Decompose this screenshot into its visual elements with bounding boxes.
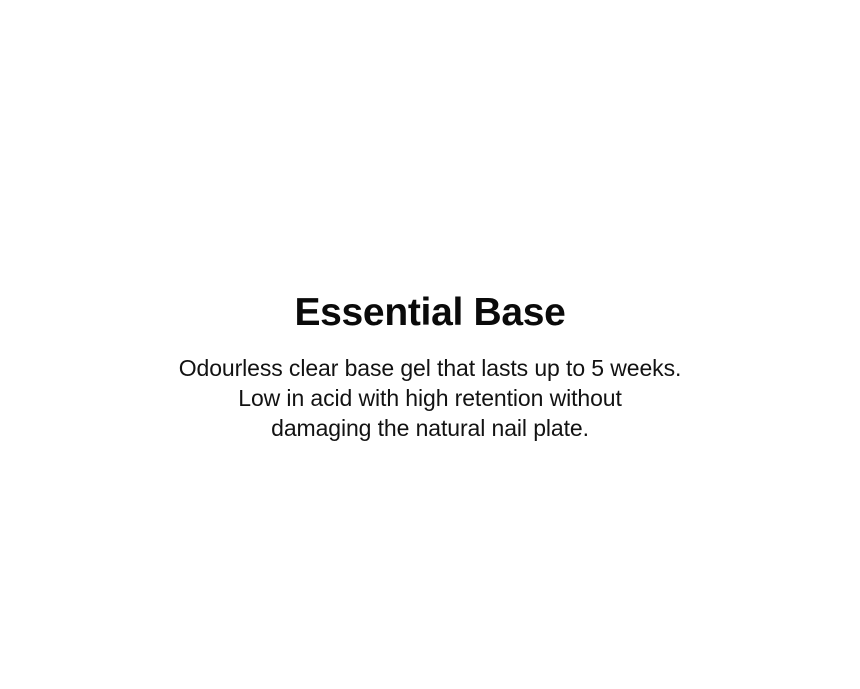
product-description: Odourless clear base gel that lasts up t…: [0, 353, 860, 443]
description-line-3: damaging the natural nail plate.: [0, 413, 860, 443]
page-title: Essential Base: [0, 290, 860, 336]
description-line-2: Low in acid with high retention without: [0, 383, 860, 413]
description-line-1: Odourless clear base gel that lasts up t…: [0, 353, 860, 383]
product-detail-page: Essential Base Odourless clear base gel …: [0, 0, 860, 689]
product-info-block: Essential Base Odourless clear base gel …: [0, 0, 860, 689]
